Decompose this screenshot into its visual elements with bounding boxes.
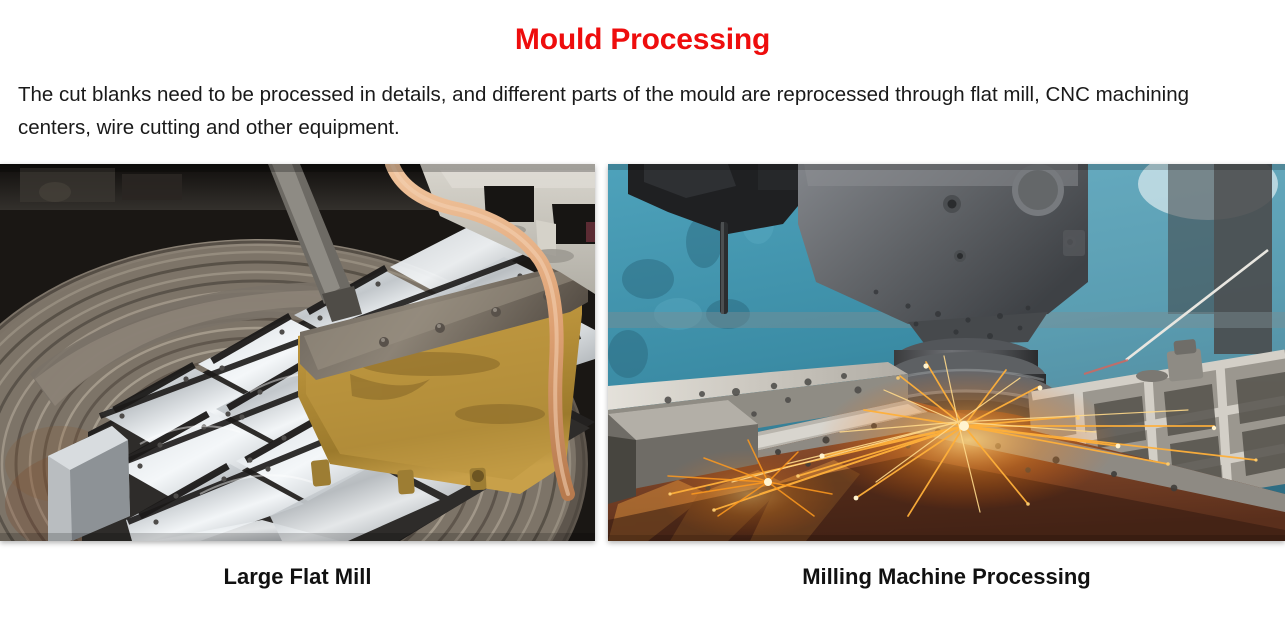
photo-milling-machine-processing[interactable] bbox=[608, 164, 1285, 541]
mould-processing-section: Mould Processing The cut blanks need to … bbox=[0, 0, 1285, 619]
intro-paragraph: The cut blanks need to be processed in d… bbox=[18, 78, 1213, 144]
photo-large-flat-mill[interactable] bbox=[0, 164, 595, 541]
caption-large-flat-mill: Large Flat Mill bbox=[0, 560, 595, 608]
caption-milling-machine-processing: Milling Machine Processing bbox=[608, 560, 1285, 608]
page-title: Mould Processing bbox=[0, 20, 1285, 60]
large-flat-mill-illustration bbox=[0, 164, 595, 541]
milling-machine-illustration bbox=[608, 164, 1285, 541]
photo-captions: Large Flat Mill Milling Machine Processi… bbox=[0, 560, 1285, 608]
photo-gallery bbox=[0, 164, 1285, 541]
